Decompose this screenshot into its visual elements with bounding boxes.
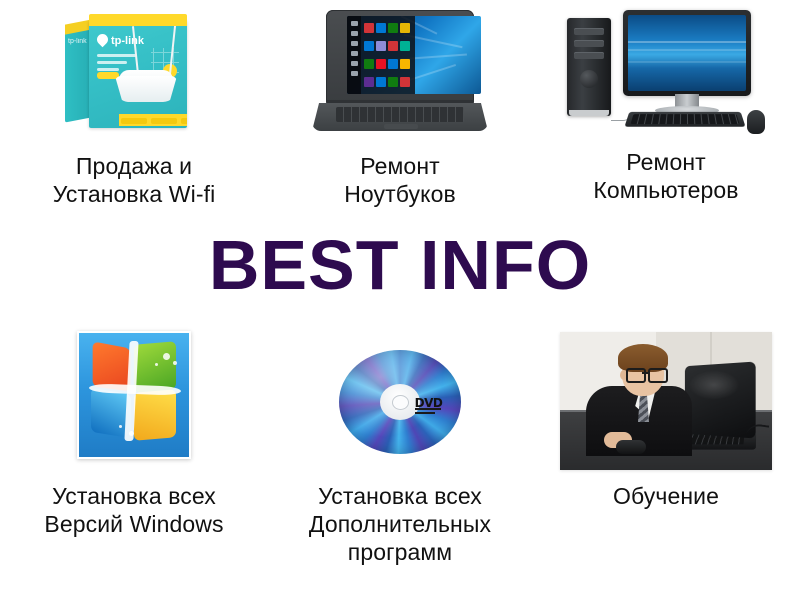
service-caption-wifi: Продажа и Установка Wi-fi — [53, 152, 216, 208]
service-card-pc-repair[interactable]: Ремонт Компьютеров — [532, 4, 800, 204]
service-card-laptop-repair[interactable]: Ремонт Ноутбуков — [268, 8, 532, 208]
tp-link-router-box-photo: tp-link tp-link — [59, 8, 209, 134]
service-caption-pc-repair: Ремонт Компьютеров — [593, 148, 738, 204]
poster-canvas: tp-link tp-link Продажа и Установка Wi-f… — [0, 0, 800, 600]
service-caption-windows-install: Установка всех Версий Windows — [44, 482, 223, 538]
desktop-computer-photo — [563, 4, 769, 134]
service-caption-training: Обучение — [613, 482, 719, 510]
service-caption-laptop-repair: Ремонт Ноутбуков — [344, 152, 456, 208]
windows-7-logo-image — [77, 330, 191, 460]
service-card-wifi[interactable]: tp-link tp-link Продажа и Установка Wi-f… — [0, 8, 268, 208]
hp-laptop-windows10-photo — [312, 8, 488, 134]
page-title: BEST INFO — [0, 225, 800, 305]
service-card-training[interactable]: Обучение — [532, 330, 800, 510]
dvd-disc-image: DVD — [339, 344, 461, 460]
boy-at-laptop-photo — [560, 330, 772, 472]
service-card-windows-install[interactable]: Установка всех Версий Windows — [0, 330, 268, 538]
service-caption-software-install: Установка всех Дополнительных программ — [309, 482, 491, 566]
service-card-software-install[interactable]: DVD Установка всех Дополнительных програ… — [268, 344, 532, 566]
